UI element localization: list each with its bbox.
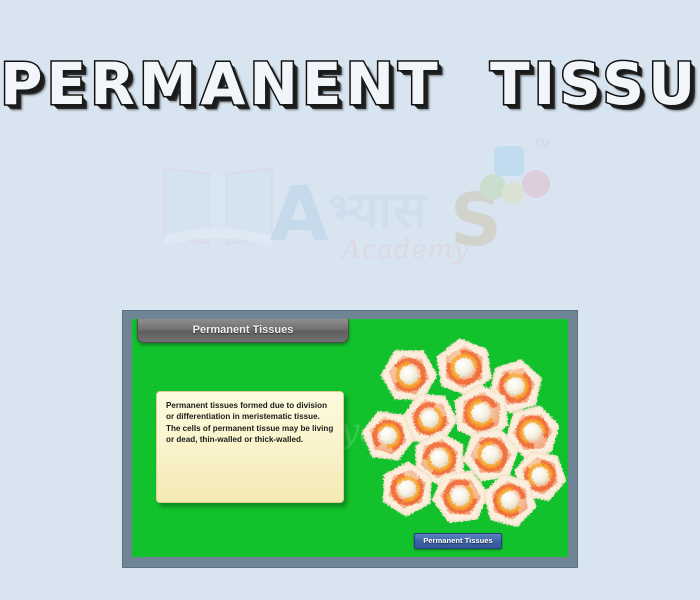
caption-button[interactable]: Permanent Tissues	[414, 533, 502, 549]
page-root: PERMANENT TISSUE A भ्यास S Academy TM Pe…	[0, 0, 700, 600]
logo-green-dot	[480, 174, 506, 200]
logo-letter-a: A	[270, 176, 329, 252]
logo-academy-text: Academy	[342, 236, 469, 264]
caption-button-label: Permanent Tissues	[415, 534, 501, 548]
description-text: Permanent tissues formed due to division…	[166, 400, 334, 446]
slide-header-label: Permanent Tissues	[138, 319, 348, 342]
logo-trademark: TM	[534, 138, 550, 150]
description-card: Permanent tissues formed due to division…	[156, 391, 344, 503]
abhyas-academy-logo-watermark: A भ्यास S Academy TM	[150, 138, 570, 288]
cell-cluster-svg	[360, 337, 568, 527]
logo-pink-dot	[522, 170, 550, 198]
logo-yellow-dot	[502, 182, 524, 204]
slide-stage: Permanent Tissues Abhyas Permanent tissu…	[132, 319, 568, 557]
slide-header-tab: Permanent Tissues	[137, 319, 349, 343]
plant-cell-cluster-diagram	[360, 337, 568, 527]
logo-letter-s: S	[450, 184, 502, 256]
open-book-icon	[158, 160, 278, 252]
logo-hindi-text: भ्यास	[328, 182, 428, 238]
logo-square-shape	[494, 146, 524, 176]
page-title: PERMANENT TISSUE	[0, 52, 700, 116]
media-frame: Permanent Tissues Abhyas Permanent tissu…	[122, 310, 578, 568]
